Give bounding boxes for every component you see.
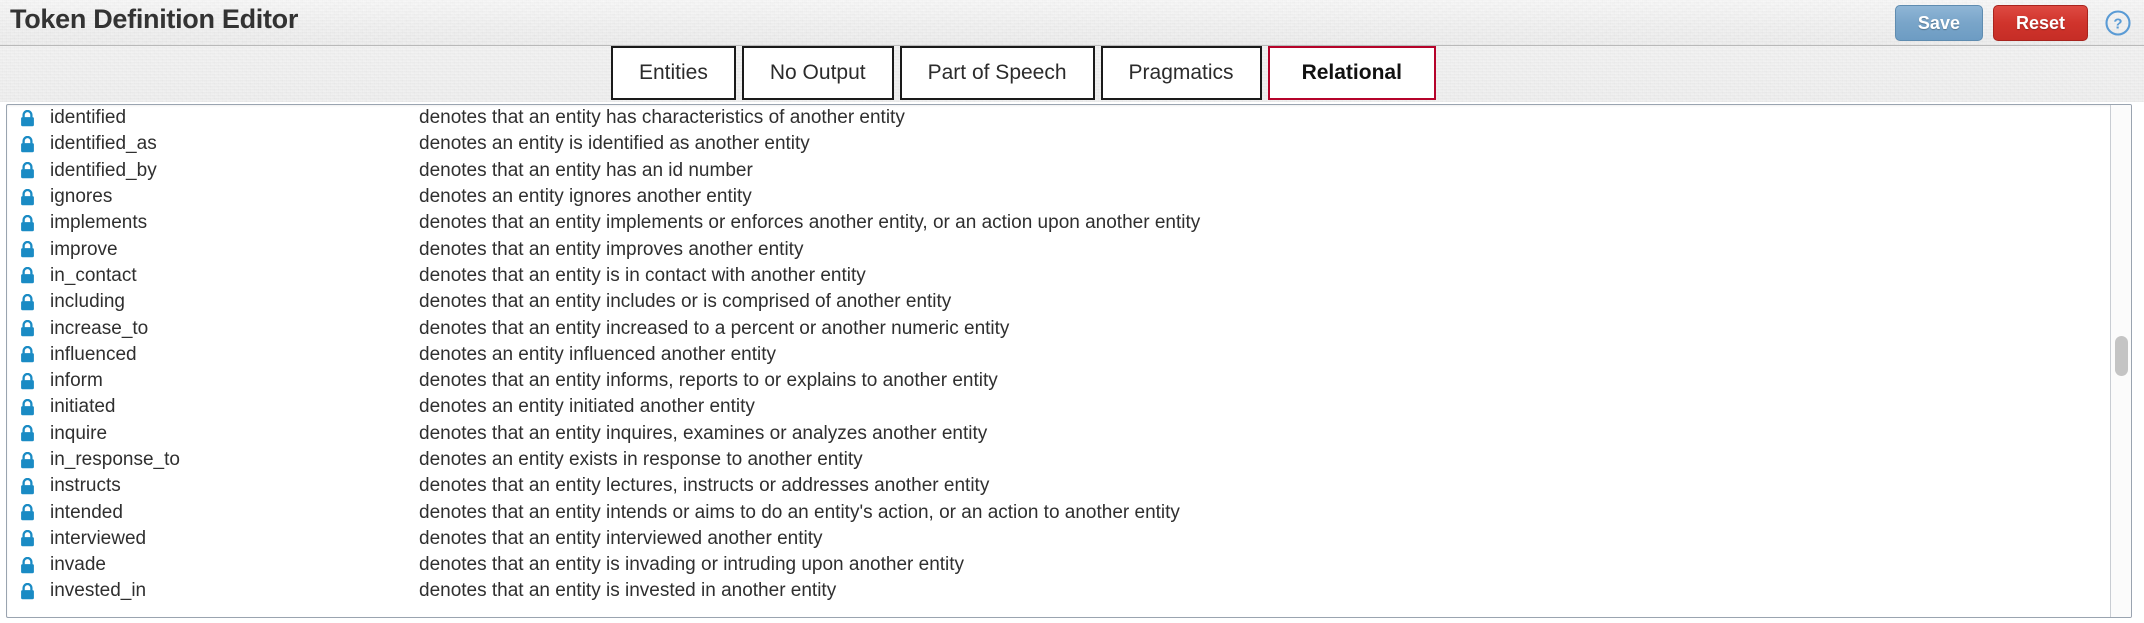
token-description: denotes that an entity is in contact wit… — [419, 265, 2109, 287]
svg-text:?: ? — [2113, 16, 2122, 33]
reset-button[interactable]: Reset — [1993, 5, 2088, 41]
tab-pragmatics[interactable]: Pragmatics — [1101, 46, 1262, 100]
lock-icon — [20, 267, 35, 284]
token-description: denotes an entity ignores another entity — [419, 186, 2109, 208]
token-name: implements — [50, 212, 419, 234]
table-row[interactable]: inquiredenotes that an entity inquires, … — [7, 421, 2109, 447]
lock-icon — [20, 136, 35, 153]
token-description: denotes that an entity has characteristi… — [419, 107, 2109, 129]
token-name: interviewed — [50, 528, 419, 550]
table-row[interactable]: informdenotes that an entity informs, re… — [7, 368, 2109, 394]
table-row[interactable]: invested_indenotes that an entity is inv… — [7, 578, 2109, 604]
lock-icon — [20, 320, 35, 337]
token-name: identified_by — [50, 160, 419, 182]
table-row[interactable]: improvedenotes that an entity improves a… — [7, 236, 2109, 262]
tab-relational[interactable]: Relational — [1268, 46, 1436, 100]
token-name: identified — [50, 107, 419, 129]
token-name: in_response_to — [50, 449, 419, 471]
table-row[interactable]: invadedenotes that an entity is invading… — [7, 552, 2109, 578]
token-name: intended — [50, 502, 419, 524]
token-name: influenced — [50, 344, 419, 366]
tab-no-output[interactable]: No Output — [742, 46, 894, 100]
token-name: including — [50, 291, 419, 313]
token-description: denotes that an entity improves another … — [419, 239, 2109, 261]
token-description: denotes an entity initiated another enti… — [419, 396, 2109, 418]
token-description: denotes that an entity is invading or in… — [419, 554, 2109, 576]
tab-bar: Entities No Output Part of Speech Pragma… — [611, 46, 1436, 100]
token-name: initiated — [50, 396, 419, 418]
lock-icon — [20, 425, 35, 442]
token-description: denotes an entity exists in response to … — [419, 449, 2109, 471]
help-icon[interactable]: ? — [2104, 9, 2132, 37]
token-name: increase_to — [50, 318, 419, 340]
table-row[interactable]: intervieweddenotes that an entity interv… — [7, 526, 2109, 552]
table-row[interactable]: in_contactdenotes that an entity is in c… — [7, 263, 2109, 289]
lock-icon — [20, 346, 35, 363]
app-header: Token Definition Editor Save Reset ? — [0, 0, 2144, 46]
table-row[interactable]: identified_asdenotes an entity is identi… — [7, 131, 2109, 157]
lock-icon — [20, 399, 35, 416]
tab-part-of-speech[interactable]: Part of Speech — [900, 46, 1095, 100]
tab-entities[interactable]: Entities — [611, 46, 736, 100]
page-title: Token Definition Editor — [10, 4, 298, 35]
table-row[interactable]: increase_todenotes that an entity increa… — [7, 315, 2109, 341]
token-name: ignores — [50, 186, 419, 208]
token-description: denotes that an entity is invested in an… — [419, 580, 2109, 602]
lock-icon — [20, 452, 35, 469]
token-list-panel: identifieddenotes that an entity has cha… — [6, 104, 2132, 618]
token-list[interactable]: identifieddenotes that an entity has cha… — [7, 105, 2109, 617]
lock-icon — [20, 373, 35, 390]
table-row[interactable]: includingdenotes that an entity includes… — [7, 289, 2109, 315]
token-name: instructs — [50, 475, 419, 497]
table-row[interactable]: identifieddenotes that an entity has cha… — [7, 105, 2109, 131]
table-row[interactable]: intendeddenotes that an entity intends o… — [7, 499, 2109, 525]
token-name: identified_as — [50, 133, 419, 155]
lock-icon — [20, 241, 35, 258]
token-description: denotes that an entity includes or is co… — [419, 291, 2109, 313]
table-row[interactable]: instructsdenotes that an entity lectures… — [7, 473, 2109, 499]
header-actions: Save Reset ? — [1895, 5, 2134, 41]
lock-icon — [20, 583, 35, 600]
table-row[interactable]: identified_bydenotes that an entity has … — [7, 158, 2109, 184]
token-description: denotes that an entity intends or aims t… — [419, 502, 2109, 524]
lock-icon — [20, 189, 35, 206]
token-description: denotes that an entity lectures, instruc… — [419, 475, 2109, 497]
table-row[interactable]: ignoresdenotes an entity ignores another… — [7, 184, 2109, 210]
table-row[interactable]: influenceddenotes an entity influenced a… — [7, 342, 2109, 368]
token-description: denotes that an entity increased to a pe… — [419, 318, 2109, 340]
token-name: invade — [50, 554, 419, 576]
save-button[interactable]: Save — [1895, 5, 1983, 41]
token-description: denotes an entity influenced another ent… — [419, 344, 2109, 366]
token-name: inform — [50, 370, 419, 392]
lock-icon — [20, 478, 35, 495]
vertical-scrollbar-track[interactable] — [2110, 105, 2131, 617]
lock-icon — [20, 530, 35, 547]
vertical-scrollbar-thumb[interactable] — [2115, 336, 2128, 376]
token-description: denotes that an entity informs, reports … — [419, 370, 2109, 392]
tab-bar-background: Entities No Output Part of Speech Pragma… — [0, 46, 2144, 102]
lock-icon — [20, 215, 35, 232]
token-description: denotes that an entity inquires, examine… — [419, 423, 2109, 445]
lock-icon — [20, 557, 35, 574]
token-description: denotes that an entity implements or enf… — [419, 212, 2109, 234]
token-definition-editor-app: Token Definition Editor Save Reset ? Ent… — [0, 0, 2144, 623]
lock-icon — [20, 162, 35, 179]
token-description: denotes an entity is identified as anoth… — [419, 133, 2109, 155]
token-name: invested_in — [50, 580, 419, 602]
table-row[interactable]: in_response_todenotes an entity exists i… — [7, 447, 2109, 473]
token-description: denotes that an entity interviewed anoth… — [419, 528, 2109, 550]
token-name: in_contact — [50, 265, 419, 287]
token-name: inquire — [50, 423, 419, 445]
table-row[interactable]: implementsdenotes that an entity impleme… — [7, 210, 2109, 236]
lock-icon — [20, 504, 35, 521]
lock-icon — [20, 110, 35, 127]
token-name: improve — [50, 239, 419, 261]
table-row[interactable]: initiateddenotes an entity initiated ano… — [7, 394, 2109, 420]
lock-icon — [20, 294, 35, 311]
token-description: denotes that an entity has an id number — [419, 160, 2109, 182]
